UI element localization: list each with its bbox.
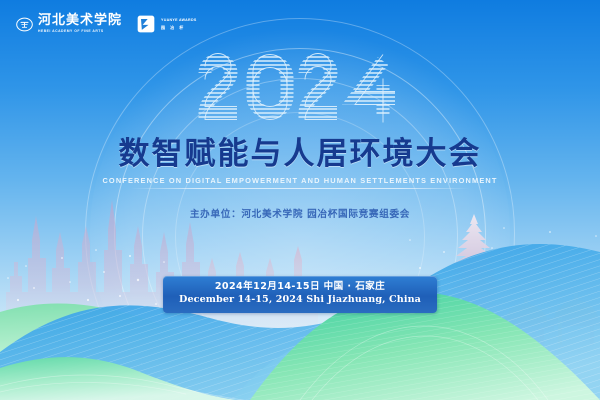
decor-arc-mid: [114, 48, 486, 400]
yuanye-mark-icon: [136, 14, 156, 34]
conference-poster: 河北美术学院 HEBEI ACADEMY OF FINE ARTS YUANYE…: [0, 0, 600, 400]
logo-yuanye-en: YUANYE AWARDS: [161, 18, 197, 22]
logo-bar: 河北美术学院 HEBEI ACADEMY OF FINE ARTS YUANYE…: [16, 14, 197, 34]
logo-hebei-cn: 河北美术学院: [38, 14, 122, 27]
logo-hebei-academy[interactable]: 河北美术学院 HEBEI ACADEMY OF FINE ARTS: [16, 14, 122, 33]
year-2024-svg: 2024: [195, 52, 405, 124]
organizer-line: 主办单位：河北美术学院 园冶杯国际竞赛组委会: [0, 206, 600, 220]
pavilion-pillar-left-a: [508, 322, 512, 348]
subtitle-divider: [130, 188, 470, 189]
wave-blue-light: [232, 335, 472, 400]
date-english: December 14-15, 2024 Shi Jiazhuang, Chin…: [179, 294, 421, 307]
pavilion-roof-right: [548, 294, 600, 326]
pagoda-tower: [450, 214, 498, 330]
logo-yuanye-cn: 园 冶 杯: [161, 25, 197, 30]
pavilion-pillar-right-a: [558, 318, 562, 346]
page-title: 数智赋能与人居环境大会: [0, 128, 600, 173]
pavilion-base: [498, 344, 600, 352]
castle-skyline-silhouette: [6, 200, 318, 340]
hill-teal-mid: [300, 322, 548, 400]
subtitle-english: CONFERENCE ON DIGITAL EMPOWERMENT AND HU…: [0, 176, 600, 185]
decor-arc-inner: [142, 78, 458, 394]
pavilion-pillar-left-b: [540, 322, 544, 348]
hill-green-front-left: [0, 357, 236, 400]
logo-yuanye-awards[interactable]: YUANYE AWARDS 园 冶 杯: [136, 14, 197, 34]
seal-emblem-icon: [16, 16, 33, 33]
date-location-plate: 2024年12月14-15日 中国 · 石家庄 December 14-15, …: [163, 276, 437, 313]
hill-green-left: [0, 304, 600, 400]
scenery-illustration: [0, 0, 600, 400]
wave-blue: [0, 230, 600, 400]
sparkle-dots-right: [409, 227, 597, 305]
contour-lines: [0, 326, 548, 400]
chinese-pavilion: [498, 294, 600, 352]
year-graphic: 2024: [0, 52, 600, 124]
pavilion-roof-left: [498, 298, 554, 330]
logo-hebei-en: HEBEI ACADEMY OF FINE ARTS: [38, 30, 122, 33]
date-chinese: 2024年12月14-15日 中国 · 石家庄: [179, 281, 421, 294]
pavilion-pillar-right-b: [590, 318, 594, 346]
